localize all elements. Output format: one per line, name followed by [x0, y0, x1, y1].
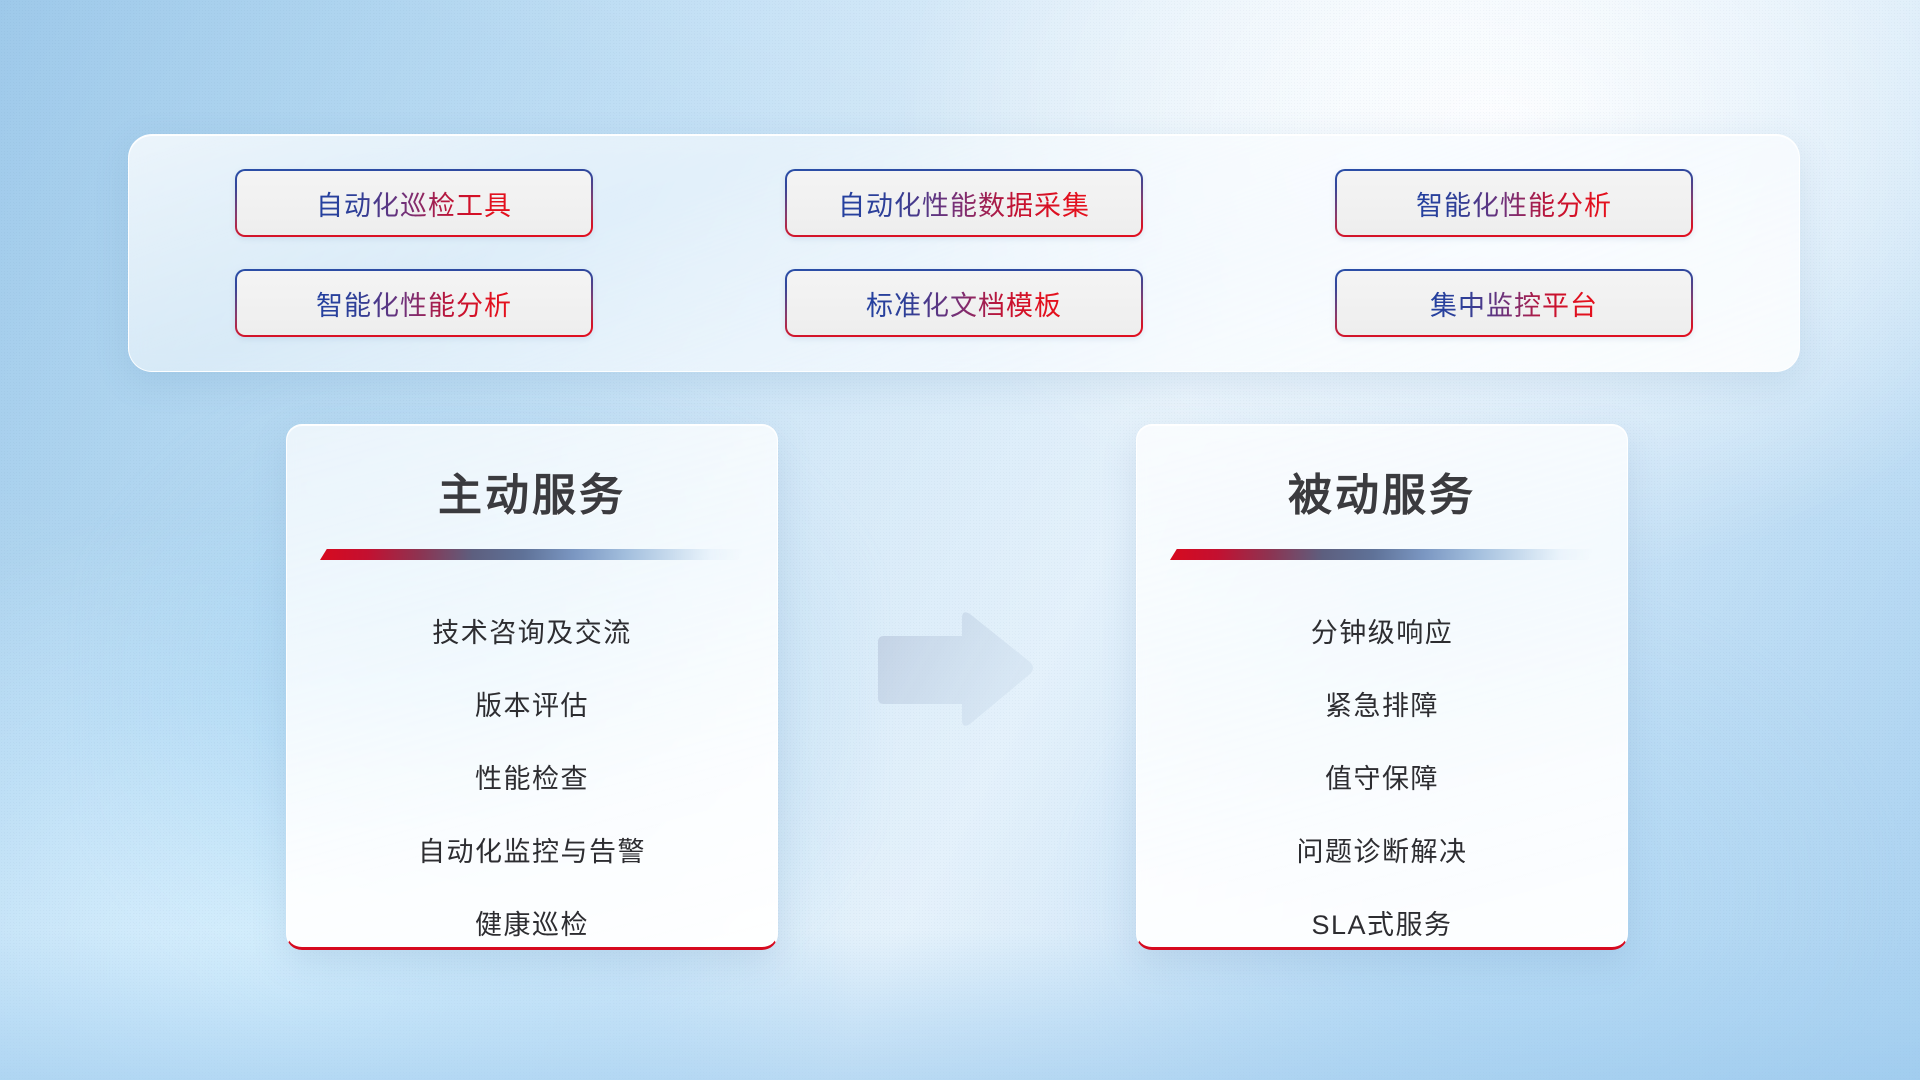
capability-tag-grid: 自动化巡检工具 自动化性能数据采集 智能化性能分析 智能化性能分析 标准化文档模… [235, 169, 1693, 337]
capability-tag-3[interactable]: 智能化性能分析 [1335, 169, 1693, 237]
capability-tag-2[interactable]: 自动化性能数据采集 [785, 169, 1143, 237]
capability-tag-6-surface: 集中监控平台 [1337, 271, 1691, 335]
service-card-passive-list: 分钟级响应 紧急排障 值守保障 问题诊断解决 SLA式服务 [1137, 594, 1627, 950]
capability-tag-2-label: 自动化性能数据采集 [838, 184, 1090, 223]
list-item: SLA式服务 [1159, 886, 1605, 950]
list-item: 值守保障 [1159, 740, 1605, 813]
list-item: 紧急排障 [1159, 667, 1605, 740]
service-card-passive-divider [1170, 549, 1594, 560]
service-card-active-list: 技术咨询及交流 版本评估 性能检查 自动化监控与告警 健康巡检 [287, 594, 777, 950]
capability-tag-6[interactable]: 集中监控平台 [1335, 269, 1693, 337]
list-item: 性能检查 [309, 740, 755, 813]
list-item: 版本评估 [309, 667, 755, 740]
service-card-active-divider [320, 549, 744, 560]
capability-tag-6-label: 集中监控平台 [1430, 284, 1598, 323]
list-item: 自动化监控与告警 [309, 813, 755, 886]
list-item: 问题诊断解决 [1159, 813, 1605, 886]
list-item: 健康巡检 [309, 886, 755, 950]
capability-tag-4-label: 智能化性能分析 [316, 284, 512, 323]
service-card-active-title: 主动服务 [287, 459, 777, 523]
arrow-right-icon [866, 608, 1036, 732]
capability-tag-2-surface: 自动化性能数据采集 [787, 171, 1141, 235]
background-bottom-band [0, 930, 1920, 1080]
capability-panel: 自动化巡检工具 自动化性能数据采集 智能化性能分析 智能化性能分析 标准化文档模… [128, 134, 1800, 372]
list-item: 技术咨询及交流 [309, 594, 755, 667]
capability-tag-1[interactable]: 自动化巡检工具 [235, 169, 593, 237]
capability-tag-1-surface: 自动化巡检工具 [237, 171, 591, 235]
capability-tag-5-label: 标准化文档模板 [866, 284, 1062, 323]
capability-tag-3-label: 智能化性能分析 [1416, 184, 1612, 223]
service-card-passive: 被动服务 分钟级响应 紧急排障 值守保障 问题诊断解决 SLA式服务 [1136, 424, 1628, 950]
capability-tag-4[interactable]: 智能化性能分析 [235, 269, 593, 337]
service-card-passive-title: 被动服务 [1137, 459, 1627, 523]
capability-tag-5-surface: 标准化文档模板 [787, 271, 1141, 335]
capability-tag-5[interactable]: 标准化文档模板 [785, 269, 1143, 337]
service-card-active: 主动服务 技术咨询及交流 版本评估 性能检查 自动化监控与告警 健康巡检 [286, 424, 778, 950]
capability-tag-4-surface: 智能化性能分析 [237, 271, 591, 335]
capability-tag-3-surface: 智能化性能分析 [1337, 171, 1691, 235]
capability-tag-1-label: 自动化巡检工具 [316, 184, 512, 223]
list-item: 分钟级响应 [1159, 594, 1605, 667]
